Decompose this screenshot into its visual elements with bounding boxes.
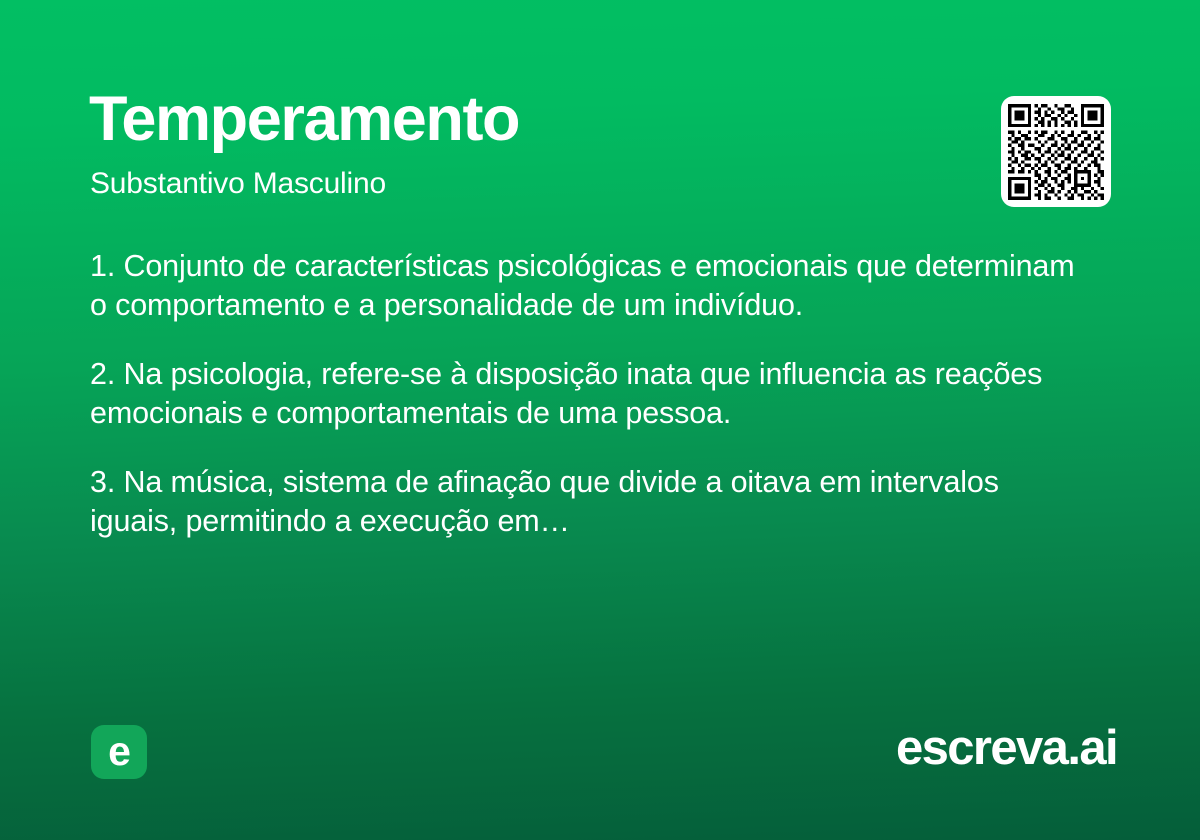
logo-letter: e	[108, 731, 130, 772]
definition-item: 2. Na psicologia, refere-se à disposição…	[90, 355, 1080, 433]
word-class-subtitle: Substantivo Masculino	[90, 166, 386, 202]
definition-card: Temperamento Substantivo Masculino 1. Co…	[0, 0, 1200, 840]
definition-item: 1. Conjunto de características psicológi…	[90, 247, 1080, 325]
page-title: Temperamento	[89, 86, 519, 152]
qr-code-panel[interactable]	[1001, 96, 1111, 207]
escreva-logo-badge[interactable]: e	[91, 725, 147, 779]
definition-item: 3. Na música, sistema de afinação que di…	[90, 463, 1080, 541]
qr-code-icon	[1008, 104, 1104, 200]
definition-list: 1. Conjunto de características psicológi…	[90, 247, 1080, 541]
brand-wordmark: escreva.ai	[896, 722, 1117, 776]
